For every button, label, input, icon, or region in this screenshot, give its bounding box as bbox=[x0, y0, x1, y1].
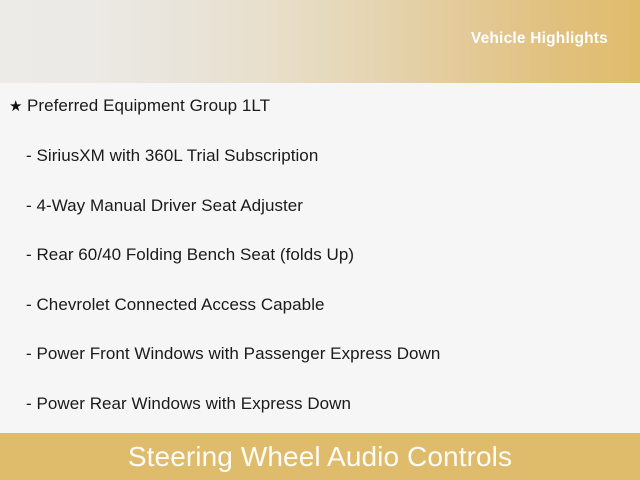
list-item-label: - Power Rear Windows with Express Down bbox=[26, 387, 351, 421]
list-item-label: - Power Front Windows with Passenger Exp… bbox=[26, 337, 440, 371]
list-item: - Power Front Windows with Passenger Exp… bbox=[0, 337, 640, 371]
list-item-label: - 4-Way Manual Driver Seat Adjuster bbox=[26, 189, 303, 223]
list-item: - 4-Way Manual Driver Seat Adjuster bbox=[0, 189, 640, 223]
list-item: - Power Rear Windows with Express Down bbox=[0, 387, 640, 421]
list-item-label: - Chevrolet Connected Access Capable bbox=[26, 288, 325, 322]
caption-label: Steering Wheel Audio Controls bbox=[128, 440, 512, 474]
vehicle-highlights-slide: Vehicle Highlights ★ Preferred Equipment… bbox=[0, 0, 640, 480]
page-title: Vehicle Highlights bbox=[471, 29, 608, 49]
star-icon: ★ bbox=[9, 89, 22, 123]
list-item-label: - SiriusXM with 360L Trial Subscription bbox=[26, 139, 318, 173]
list-item: - Chevrolet Connected Access Capable bbox=[0, 288, 640, 322]
list-item: - Rear 60/40 Folding Bench Seat (folds U… bbox=[0, 238, 640, 272]
list-item-label: - Rear 60/40 Folding Bench Seat (folds U… bbox=[26, 238, 354, 272]
list-item: - SiriusXM with 360L Trial Subscription bbox=[0, 139, 640, 173]
list-item: ★ Preferred Equipment Group 1LT bbox=[0, 89, 640, 123]
header-band: Vehicle Highlights bbox=[0, 0, 640, 83]
list-item-label: Preferred Equipment Group 1LT bbox=[27, 89, 270, 123]
caption-band: Steering Wheel Audio Controls bbox=[0, 433, 640, 480]
highlights-list: ★ Preferred Equipment Group 1LT - Sirius… bbox=[0, 83, 640, 433]
